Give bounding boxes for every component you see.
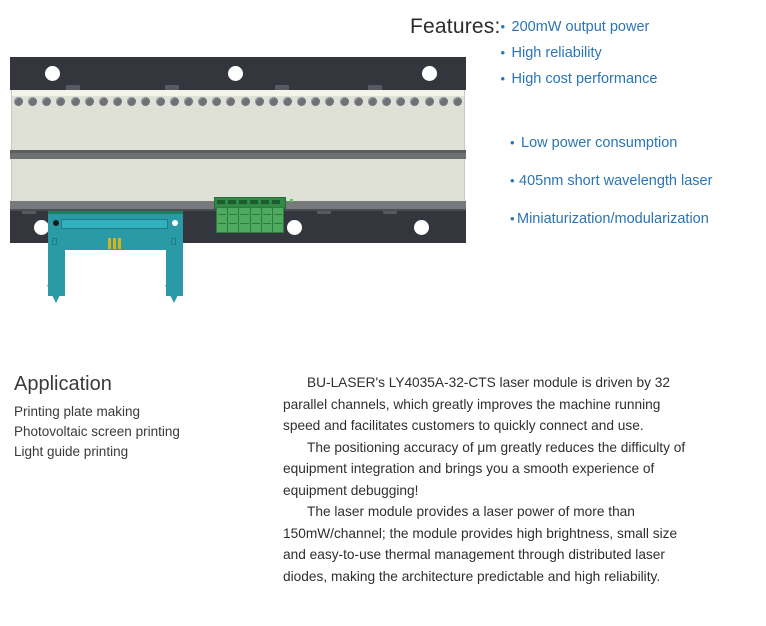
channel-dot xyxy=(99,97,108,106)
features-title: Features: xyxy=(410,14,501,40)
teal-connector xyxy=(48,205,183,315)
features-list-primary: • 200mW output power • High reliability … xyxy=(501,14,658,92)
gold-contact-pins xyxy=(108,238,121,249)
connector-hook xyxy=(165,285,183,303)
terminal-slot xyxy=(228,200,236,204)
channel-dot xyxy=(439,97,448,106)
mount-hole xyxy=(414,220,429,235)
mount-hole xyxy=(34,220,49,235)
terminal-slot xyxy=(261,200,269,204)
channel-dot xyxy=(170,97,179,106)
mount-hole xyxy=(228,66,243,81)
bullet-icon: • xyxy=(501,14,512,40)
middle-rail xyxy=(10,150,466,159)
channel-dot xyxy=(297,97,306,106)
bar-tab xyxy=(66,85,80,90)
terminal-pole xyxy=(251,208,262,232)
feature-item: • High cost performance xyxy=(501,66,658,92)
terminal-pole xyxy=(228,208,239,232)
channel-dot xyxy=(396,97,405,106)
channel-dot xyxy=(283,97,292,106)
channel-dot xyxy=(269,97,278,106)
channel-dot-row xyxy=(14,96,462,107)
mount-hole xyxy=(45,66,60,81)
feature-label: Miniaturization/modularization xyxy=(517,201,709,238)
top-mount-bar xyxy=(10,57,466,90)
channel-dot xyxy=(113,97,122,106)
terminal-pole xyxy=(239,208,250,232)
bar-tab xyxy=(275,85,289,90)
application-item: Photovoltaic screen printing xyxy=(14,422,244,442)
channel-dot xyxy=(127,97,136,106)
channel-dot xyxy=(340,97,349,106)
connector-notch xyxy=(52,238,57,245)
status-led-icon xyxy=(290,199,293,202)
channel-dot xyxy=(368,97,377,106)
green-terminal-body xyxy=(216,207,284,233)
channel-dot xyxy=(141,97,150,106)
application-item: Printing plate making xyxy=(14,402,244,422)
channel-dot xyxy=(255,97,264,106)
channel-dot xyxy=(198,97,207,106)
channel-dot xyxy=(71,97,80,106)
feature-label: Low power consumption xyxy=(521,125,677,162)
channel-dot xyxy=(354,97,363,106)
terminal-slot xyxy=(250,200,258,204)
bullet-icon: • xyxy=(510,162,519,199)
description-paragraph: The laser module provides a laser power … xyxy=(283,501,695,587)
channel-dot xyxy=(325,97,334,106)
application-list: Printing plate making Photovoltaic scree… xyxy=(14,402,244,462)
feature-label: High reliability xyxy=(512,40,602,66)
bar-tab xyxy=(368,85,382,90)
description-paragraph: The positioning accuracy of μm greatly r… xyxy=(283,437,695,502)
terminal-slot xyxy=(217,200,225,204)
channel-dot xyxy=(410,97,419,106)
channel-dot xyxy=(453,97,462,106)
connector-hook xyxy=(47,285,65,303)
bullet-icon: • xyxy=(501,66,512,92)
teal-connector-slot xyxy=(61,219,168,229)
application-item: Light guide printing xyxy=(14,442,244,462)
bullet-icon: • xyxy=(510,124,521,161)
feature-label: High cost performance xyxy=(512,66,658,92)
channel-dot xyxy=(311,97,320,106)
feature-item: • 405nm short wavelength laser xyxy=(510,162,766,200)
mount-hole xyxy=(422,66,437,81)
channel-dot xyxy=(241,97,250,106)
terminal-pole xyxy=(273,208,283,232)
bullet-icon: • xyxy=(510,200,517,237)
description-section: BU-LASER's LY4035A-32-CTS laser module i… xyxy=(283,372,695,587)
channel-dot xyxy=(42,97,51,106)
terminal-slot xyxy=(272,200,280,204)
channel-dot xyxy=(28,97,37,106)
terminal-pole xyxy=(217,208,228,232)
channel-dot xyxy=(184,97,193,106)
channel-dot xyxy=(382,97,391,106)
channel-dot xyxy=(56,97,65,106)
bar-tab xyxy=(165,85,179,90)
channel-dot xyxy=(14,97,23,106)
application-title: Application xyxy=(14,370,244,398)
teal-connector-body xyxy=(48,211,183,250)
connector-screw xyxy=(53,220,59,226)
description-paragraph: BU-LASER's LY4035A-32-CTS laser module i… xyxy=(283,372,695,437)
feature-item: • 200mW output power xyxy=(501,14,658,40)
channel-dot xyxy=(212,97,221,106)
feature-label: 200mW output power xyxy=(512,14,650,40)
connector-notch xyxy=(171,238,176,245)
application-section: Application Printing plate making Photov… xyxy=(14,370,244,462)
channel-dot xyxy=(226,97,235,106)
middle-rail-shadow xyxy=(10,150,466,153)
bullet-icon: • xyxy=(501,40,512,66)
feature-item: • Low power consumption xyxy=(510,124,766,162)
terminal-slot xyxy=(239,200,247,204)
feature-item: • Miniaturization/modularization xyxy=(510,200,766,238)
channel-dot xyxy=(85,97,94,106)
mount-hole xyxy=(287,220,302,235)
channel-dot xyxy=(156,97,165,106)
feature-item: • High reliability xyxy=(501,40,658,66)
terminal-pole xyxy=(262,208,273,232)
channel-dot xyxy=(425,97,434,106)
feature-label: 405nm short wavelength laser xyxy=(519,163,712,200)
product-image xyxy=(10,57,466,243)
product-datasheet-page: Features: • 200mW output power • High re… xyxy=(0,0,766,626)
green-terminal-block xyxy=(214,197,286,233)
connector-screw xyxy=(172,220,178,226)
features-list-secondary: • Low power consumption • 405nm short wa… xyxy=(510,124,766,238)
